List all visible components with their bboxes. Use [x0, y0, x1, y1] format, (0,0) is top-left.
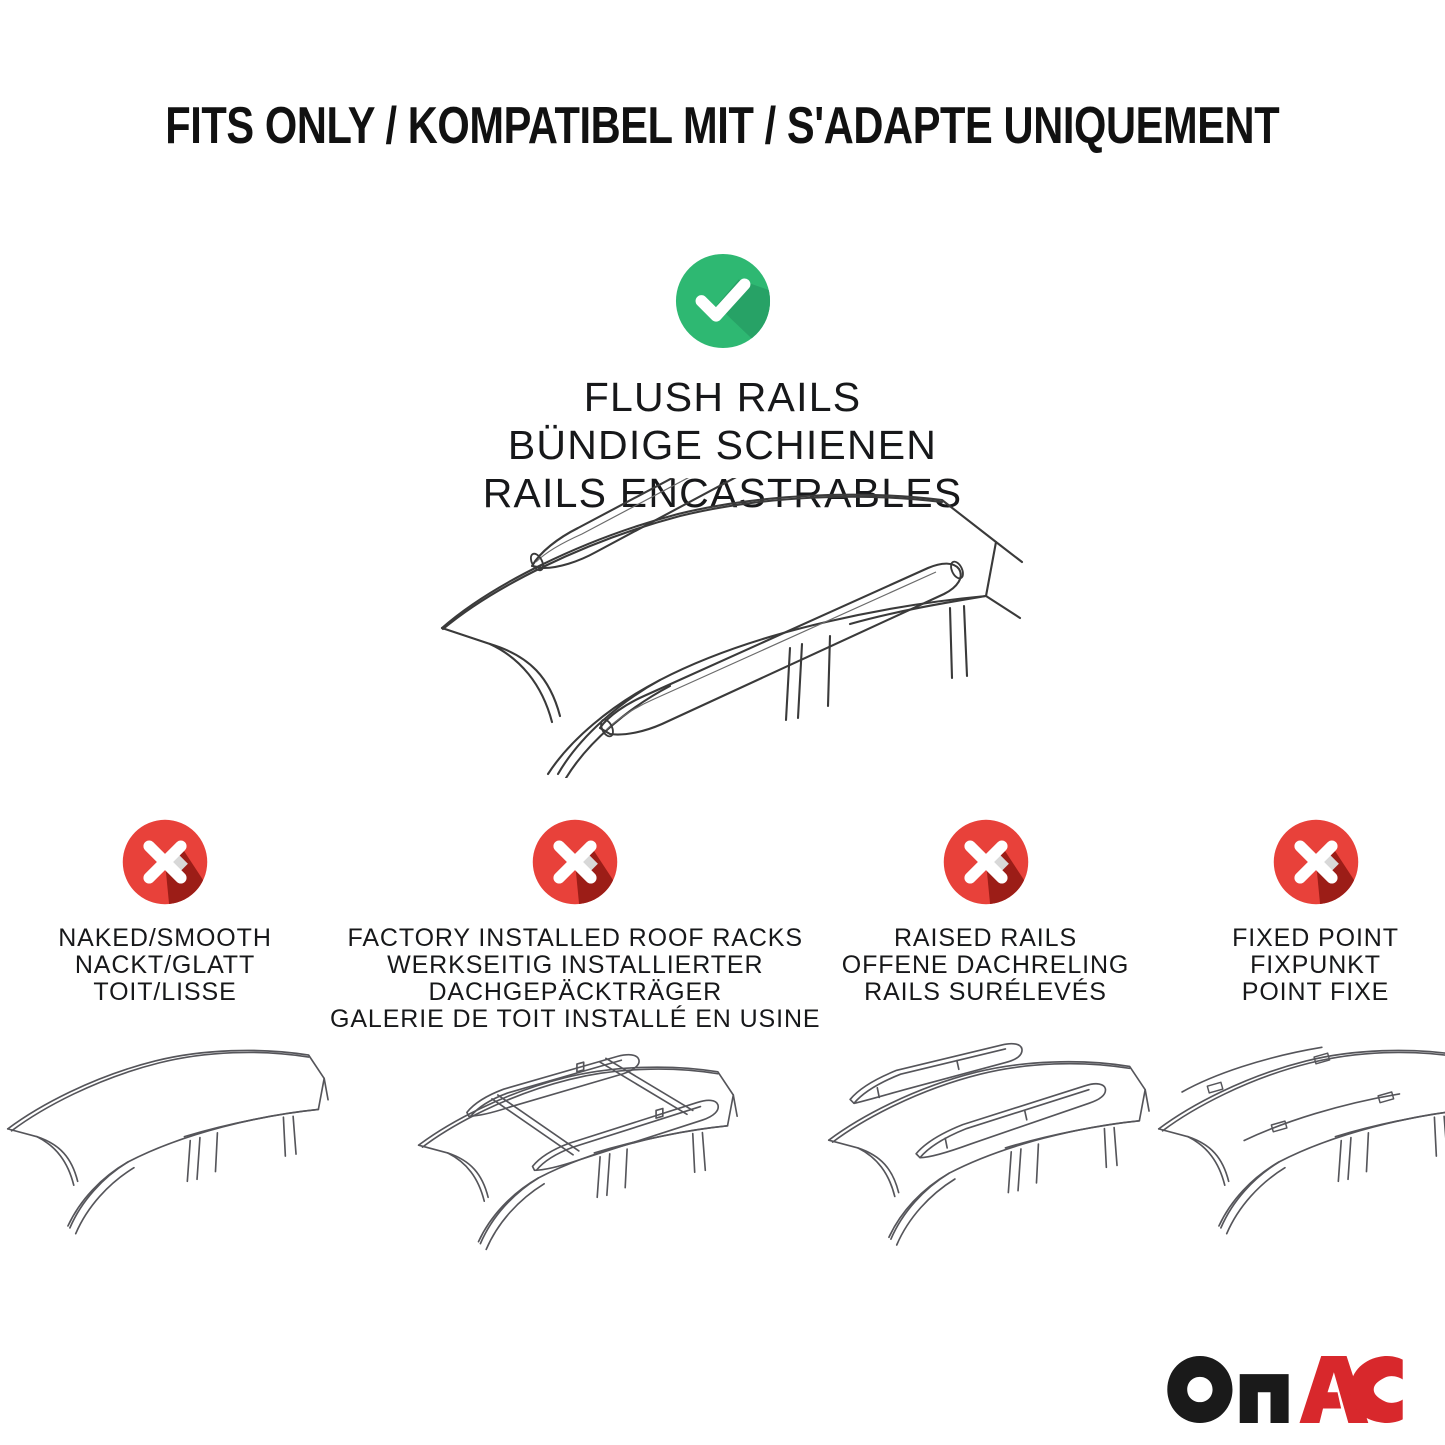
x-circle-icon — [121, 818, 209, 906]
car-roof-with-flush-rails-illustration — [430, 478, 1030, 778]
incompatible-column-naked-smooth: NAKED/SMOOTH NACKT/GLATT TOIT/LISSE — [0, 818, 330, 1269]
x-circle-icon — [942, 818, 1030, 906]
x-circle-icon — [531, 818, 619, 906]
column-labels-fixed-point: FIXED POINT FIXPUNKT POINT FIXE — [1151, 925, 1445, 1037]
check-circle-icon — [674, 252, 772, 350]
x-circle-icon — [1272, 818, 1360, 906]
car-roof-fixed-point-illustration — [1151, 1039, 1445, 1269]
column-label-fr: POINT FIXE — [1151, 979, 1445, 1006]
column-label-de-2: DACHGEPÄCKTRÄGER — [330, 979, 821, 1006]
column-label-de: OFFENE DACHRELING — [821, 952, 1151, 979]
incompatible-column-raised-rails: RAISED RAILS OFFENE DACHRELING RAILS SUR… — [821, 818, 1151, 1269]
column-label-en: FACTORY INSTALLED ROOF RACKS — [330, 925, 821, 952]
column-label-de: NACKT/GLATT — [0, 952, 330, 979]
column-label-en: RAISED RAILS — [821, 925, 1151, 952]
column-labels-naked-smooth: NAKED/SMOOTH NACKT/GLATT TOIT/LISSE — [0, 925, 330, 1037]
column-labels-raised-rails: RAISED RAILS OFFENE DACHRELING RAILS SUR… — [821, 925, 1151, 1037]
compatible-label-de: BÜNDIGE SCHIENEN — [0, 421, 1445, 469]
column-label-fr: GALERIE DE TOIT INSTALLÉ EN USINE — [330, 1006, 821, 1033]
omac-logo-letter-m — [1240, 1374, 1289, 1423]
column-labels-factory-installed-roof-racks: FACTORY INSTALLED ROOF RACKS WERKSEITIG … — [330, 925, 821, 1037]
incompatible-column-factory-installed-roof-racks: FACTORY INSTALLED ROOF RACKS WERKSEITIG … — [330, 818, 821, 1269]
column-label-fr: TOIT/LISSE — [0, 979, 330, 1006]
car-roof-naked-smooth-illustration — [0, 1039, 330, 1269]
car-roof-factory-installed-racks-illustration — [330, 1039, 821, 1269]
omac-logo-letter-o — [1167, 1356, 1232, 1423]
column-label-en: FIXED POINT — [1151, 925, 1445, 952]
column-label-de: FIXPUNKT — [1151, 952, 1445, 979]
column-label-de-1: WERKSEITIG INSTALLIERTER — [330, 952, 821, 979]
compatible-label-en: FLUSH RAILS — [0, 373, 1445, 421]
page-title: FITS ONLY / KOMPATIBEL MIT / S'ADAPTE UN… — [0, 96, 1445, 156]
column-label-fr: RAILS SURÉLEVÉS — [821, 979, 1151, 1006]
column-label-en: NAKED/SMOOTH — [0, 925, 330, 952]
incompatible-column-fixed-point: FIXED POINT FIXPUNKT POINT FIXE — [1151, 818, 1445, 1269]
page-title-text: FITS ONLY / KOMPATIBEL MIT / S'ADAPTE UN… — [166, 96, 1280, 156]
incompatible-columns: NAKED/SMOOTH NACKT/GLATT TOIT/LISSE — [0, 818, 1445, 1269]
car-roof-raised-rails-illustration — [821, 1039, 1151, 1269]
omac-logo — [1167, 1351, 1403, 1427]
